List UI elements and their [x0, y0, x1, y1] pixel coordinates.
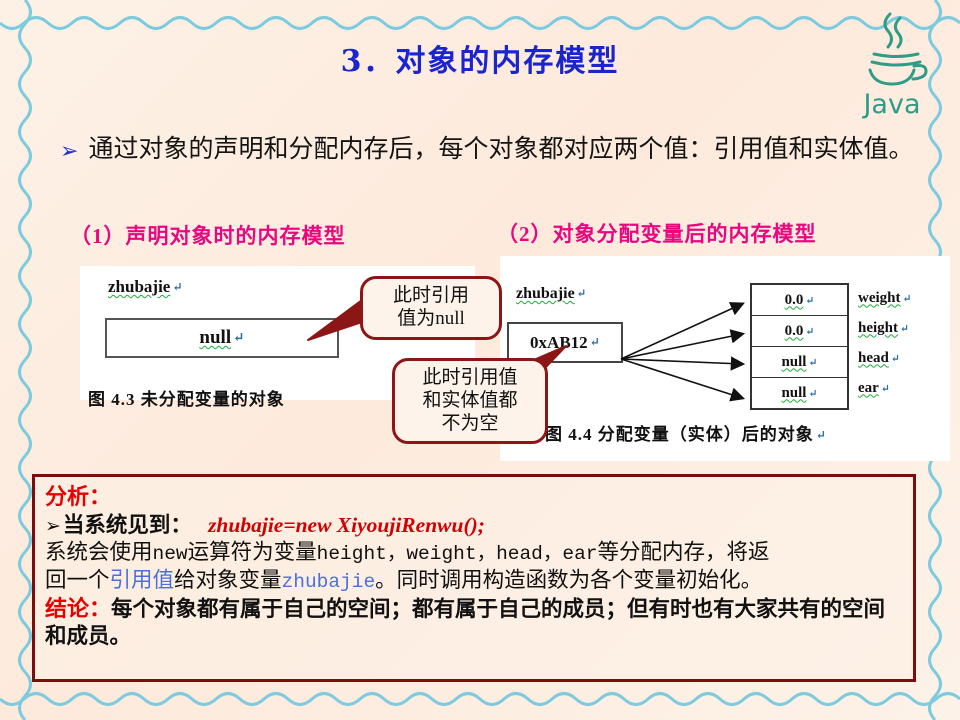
field-label: height↵ — [858, 313, 948, 343]
table-row: 0.0↵ — [752, 316, 847, 347]
analysis-line2-label: 当系统见到： — [63, 513, 192, 537]
figure-right-caption: 图 4.4 分配变量（实体）后的对象↵ — [545, 420, 827, 445]
analysis-conclusion-label: 结论： — [45, 596, 111, 621]
analysis-line4-b: 给对象变量 — [174, 568, 282, 592]
main-bullet: ➢ 通过对象的声明和分配内存后，每个对象都对应两个值：引用值和实体值。 — [60, 134, 920, 165]
analysis-bullet-arrow-icon: ➢ — [45, 516, 61, 537]
figure-right-variable-label: zhubajie↵ — [516, 285, 586, 303]
table-row: null↵ — [752, 378, 847, 408]
java-cup-icon — [846, 8, 938, 94]
table-row: 0.0↵ — [752, 285, 847, 316]
java-logo-text: Java — [846, 89, 938, 120]
analysis-line3-c: 等分配内存，将返 — [597, 540, 769, 564]
analysis-line4-a: 回一个 — [45, 568, 110, 592]
java-logo: Java — [846, 8, 938, 118]
analysis-line-4: 回一个引用值给对象变量zhubajie。同时调用构造函数为各个变量初始化。 — [45, 567, 903, 595]
slide-root: 3．对象的内存模型 Java ➢ 通过对象的声明和分配内存后，每个对象都对应两个… — [0, 0, 960, 720]
analysis-line3-a: 系统会使用 — [45, 540, 153, 564]
callout-line: 此时引用 — [373, 285, 489, 308]
figure-left-caption: 图 4.3 未分配变量的对象 — [88, 385, 285, 410]
table-row: null↵ — [752, 347, 847, 378]
analysis-conclusion-text: 每个对象都有属于自己的空间；都有属于自己的成员；但有时也有大家共有的空间和成员。 — [45, 597, 885, 649]
callout-line: 不为空 — [405, 413, 535, 436]
wavy-border-top-icon — [0, 12, 960, 34]
analysis-box: 分析： ➢当系统见到： zhubajie=new XiyoujiRenwu();… — [32, 474, 916, 682]
callout-reference-null: 此时引用 值为null — [360, 276, 502, 340]
subheading-left: （1）声明对象时的内存模型 — [70, 220, 346, 250]
analysis-variable-list: height，weight，head，ear — [317, 543, 598, 565]
field-label: weight↵ — [858, 283, 948, 313]
analysis-conclusion: 结论：每个对象都有属于自己的空间；都有属于自己的成员；但有时也有大家共有的空间和… — [45, 595, 903, 651]
bullet-arrow-icon: ➢ — [60, 140, 78, 162]
callout-line: 此时引用值 — [405, 367, 535, 390]
analysis-code-snippet: zhubajie=new XiyoujiRenwu(); — [208, 513, 485, 537]
analysis-heading: 分析： — [45, 484, 111, 509]
figure-right-field-labels: weight↵ height↵ head↵ ear↵ — [858, 283, 948, 403]
analysis-line-3: 系统会使用new运算符为变量height，weight，head，ear等分配内… — [45, 539, 903, 567]
field-label: ear↵ — [858, 373, 948, 403]
main-bullet-text: 通过对象的声明和分配内存后，每个对象都对应两个值：引用值和实体值。 — [88, 134, 913, 165]
analysis-heading-line: 分析： — [45, 483, 903, 512]
analysis-term-zhubajie: zhubajie — [282, 571, 376, 593]
analysis-line3-b: 运算符为变量 — [188, 540, 317, 564]
analysis-term-reference-value: 引用值 — [110, 568, 175, 592]
figure-left-variable-label: zhubajie↵ — [108, 277, 183, 297]
callout-line: 值为null — [373, 308, 489, 331]
figure-left-value-box: null↵ — [105, 318, 339, 358]
analysis-line-2: ➢当系统见到： zhubajie=new XiyoujiRenwu(); — [45, 512, 903, 540]
analysis-keyword-new: new — [153, 543, 188, 565]
subheading-right: （2）对象分配变量后的内存模型 — [497, 218, 817, 248]
figure-right-memory-table: 0.0↵ 0.0↵ null↵ null↵ — [750, 283, 849, 410]
wavy-border-bottom-icon — [0, 688, 960, 710]
figure-right-reference-box: 0xAB12↵ — [507, 322, 623, 363]
page-title: 3．对象的内存模型 — [0, 36, 960, 80]
callout-line: 和实体值都 — [405, 390, 535, 413]
field-label: head↵ — [858, 343, 948, 373]
callout-not-empty: 此时引用值 和实体值都 不为空 — [392, 358, 548, 444]
analysis-line4-c: 。同时调用构造函数为各个变量初始化。 — [375, 568, 762, 592]
